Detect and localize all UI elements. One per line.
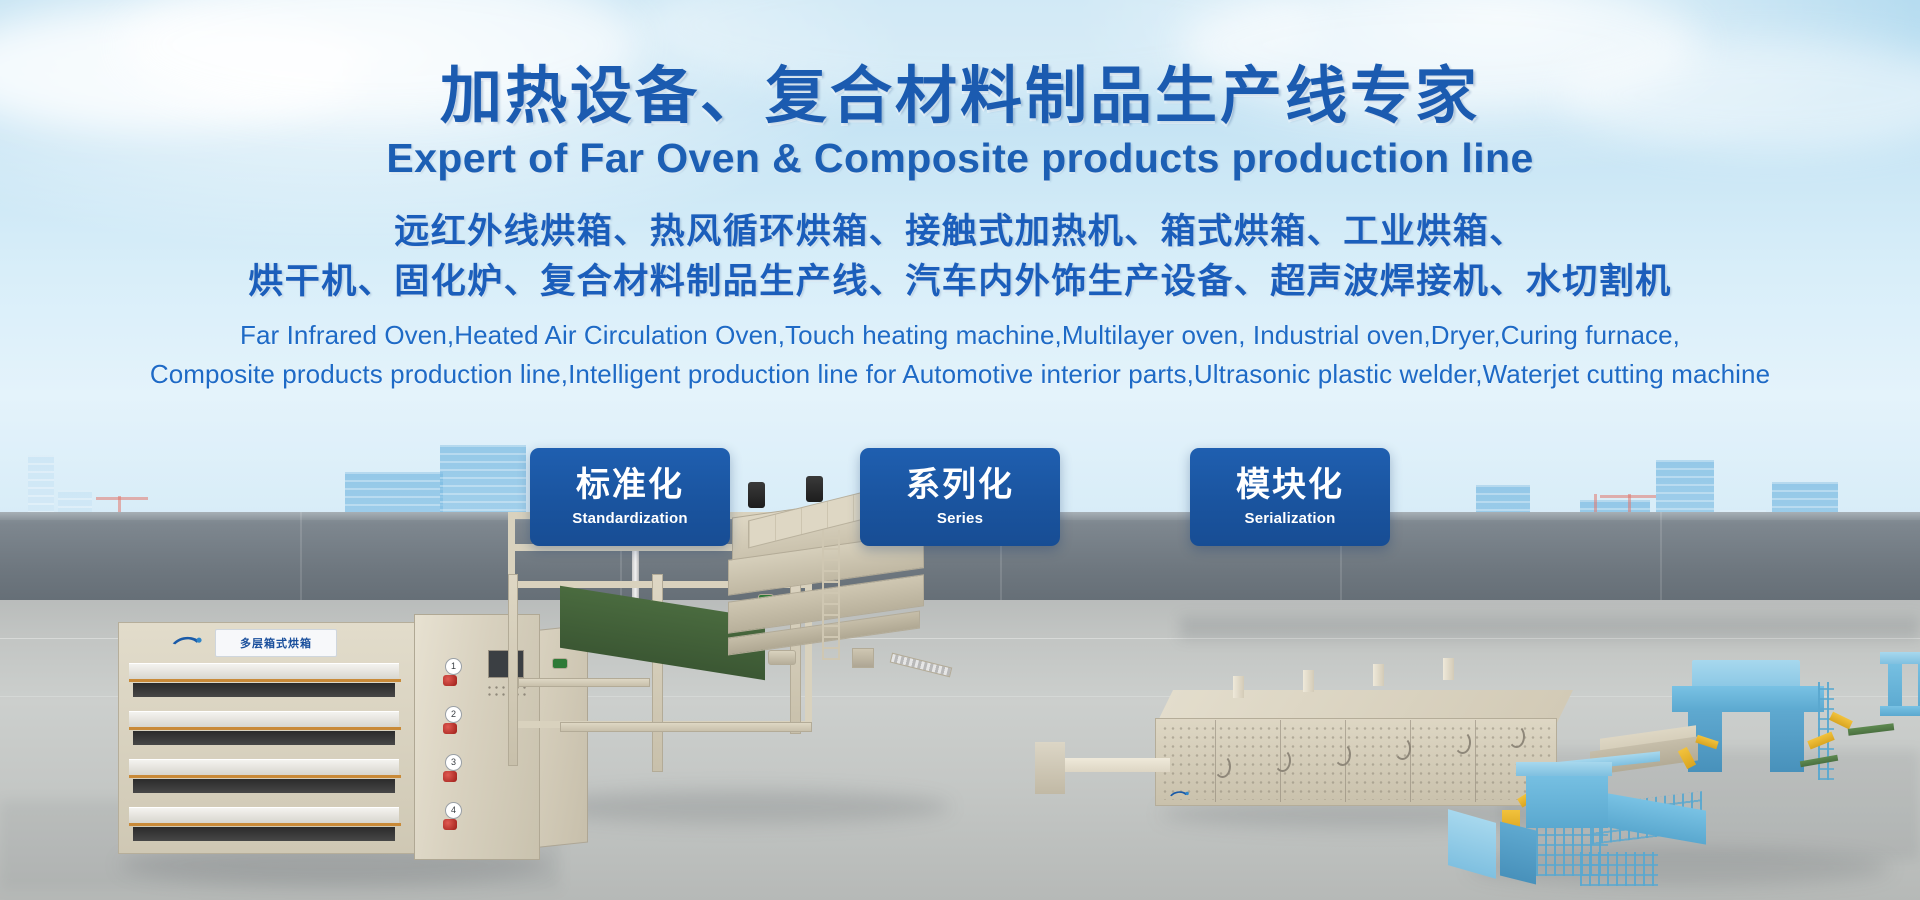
badge-label-cn: 标准化 bbox=[576, 467, 684, 504]
press-cross-beam bbox=[518, 678, 650, 687]
oven-shelf bbox=[129, 711, 399, 728]
oven-shelf-gap bbox=[133, 827, 395, 841]
machine-automotive-production-line bbox=[1440, 640, 1920, 900]
inspection-port bbox=[1214, 755, 1231, 778]
end-frame-column bbox=[1888, 658, 1902, 712]
conveyed-part bbox=[1848, 723, 1895, 736]
oven-shelf bbox=[129, 807, 399, 824]
press-access-ladder bbox=[822, 530, 840, 660]
oven-indicator-lamp[interactable] bbox=[443, 819, 457, 830]
product-line-cn-1: 远红外线烘箱、热风循环烘箱、接触式加热机、箱式烘箱、工业烘箱、 bbox=[0, 207, 1920, 257]
oven-indicator-number: 3 bbox=[445, 754, 462, 771]
brand-logo-icon bbox=[1169, 786, 1191, 804]
headline-chinese: 加热设备、复合材料制品生产线专家 bbox=[0, 64, 1920, 130]
oven-indicator-lamp[interactable] bbox=[443, 675, 457, 686]
badge-standardization[interactable]: 标准化 Standardization bbox=[530, 448, 730, 546]
oven-body: 多层箱式烘箱 bbox=[118, 622, 420, 854]
oven-shelf-edge bbox=[129, 727, 401, 730]
exhaust-stack bbox=[1233, 676, 1244, 698]
oven-shelf-edge bbox=[129, 775, 401, 778]
line-control-cabinet bbox=[1448, 809, 1496, 879]
badge-label-cn: 模块化 bbox=[1236, 467, 1344, 504]
gantry-press-leg bbox=[1770, 710, 1804, 772]
exhaust-stack bbox=[1373, 664, 1384, 686]
oven-shelf-edge bbox=[129, 679, 401, 682]
product-list-english: Far Infrared Oven,Heated Air Circulation… bbox=[0, 316, 1920, 394]
press-leg bbox=[508, 574, 518, 766]
oven-name-plate: 多层箱式烘箱 bbox=[215, 629, 337, 657]
inspection-port bbox=[1394, 737, 1411, 760]
line-machine-housing bbox=[1526, 770, 1608, 828]
machine-multilayer-oven: 多层箱式烘箱 1 2 3 4 bbox=[118, 622, 538, 868]
badge-series[interactable]: 系列化 Series bbox=[860, 448, 1060, 546]
badge-label-cn: 系列化 bbox=[906, 467, 1014, 504]
oven-name-plate-label: 多层箱式烘箱 bbox=[240, 635, 312, 651]
oven-indicator-number: 4 bbox=[445, 802, 462, 819]
badge-modularization[interactable]: 模块化 Serialization bbox=[1190, 448, 1390, 546]
press-drive-housing bbox=[852, 648, 874, 668]
badge-label-en: Standardization bbox=[572, 510, 688, 527]
oven-indicator-number: 2 bbox=[445, 706, 462, 723]
oven-shelf-gap bbox=[133, 779, 395, 793]
promo-banner: 加热设备、复合材料制品生产线专家 Expert of Far Oven & Co… bbox=[0, 0, 1920, 900]
badge-label-en: Series bbox=[937, 510, 983, 527]
oven-indicator-number: 1 bbox=[445, 658, 462, 675]
press-motor bbox=[768, 650, 796, 665]
oven-shelf-gap bbox=[133, 731, 395, 745]
press-access-ladder bbox=[1818, 682, 1834, 780]
gantry-press-platen bbox=[1672, 686, 1824, 712]
product-line-cn-2: 烘干机、固化炉、复合材料制品生产线、汽车内外饰生产设备、超声波焊接机、水切割机 bbox=[0, 257, 1920, 307]
line-roller-conveyor bbox=[1580, 852, 1658, 886]
product-line-en-1: Far Infrared Oven,Heated Air Circulation… bbox=[0, 316, 1920, 355]
machine-shadow bbox=[530, 790, 950, 824]
oven-entry-frame bbox=[1035, 742, 1065, 794]
inspection-port bbox=[1274, 749, 1291, 772]
product-list-chinese: 远红外线烘箱、热风循环烘箱、接触式加热机、箱式烘箱、工业烘箱、 烘干机、固化炉、… bbox=[0, 207, 1920, 306]
product-line-en-2: Composite products production line,Intel… bbox=[0, 355, 1920, 394]
badge-label-en: Serialization bbox=[1245, 510, 1336, 527]
oven-shelf bbox=[129, 663, 399, 680]
press-cross-beam bbox=[560, 722, 812, 732]
brand-logo-icon bbox=[171, 633, 205, 649]
oven-shelf bbox=[129, 759, 399, 776]
line-machine-top bbox=[1516, 762, 1612, 776]
end-frame-beam bbox=[1880, 652, 1920, 664]
banner-text-block: 加热设备、复合材料制品生产线专家 Expert of Far Oven & Co… bbox=[0, 0, 1920, 394]
belt-roller bbox=[552, 658, 568, 669]
oven-entry-conveyor bbox=[1050, 758, 1170, 772]
oven-shelf-gap bbox=[133, 683, 395, 697]
end-frame-base bbox=[1880, 706, 1920, 716]
oven-indicator-lamp[interactable] bbox=[443, 771, 457, 782]
oven-indicator-lamp[interactable] bbox=[443, 723, 457, 734]
headline-english: Expert of Far Oven & Composite products … bbox=[0, 136, 1920, 181]
feature-badge-group: 标准化 Standardization 系列化 Series 模块化 Seria… bbox=[0, 448, 1920, 546]
line-staircase bbox=[1500, 822, 1536, 885]
exhaust-stack bbox=[1303, 670, 1314, 692]
oven-shelf-edge bbox=[129, 823, 401, 826]
inspection-port bbox=[1334, 743, 1351, 766]
